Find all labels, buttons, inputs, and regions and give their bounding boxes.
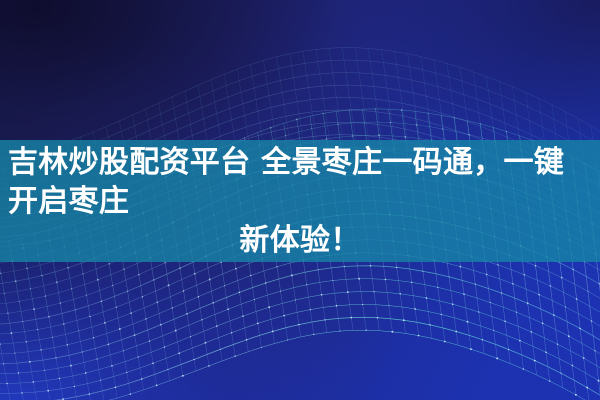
headline-line-1: 吉林炒股配资平台 全景枣庄一码通，一键开启枣庄 <box>8 145 564 219</box>
promo-banner: 吉林炒股配资平台 全景枣庄一码通，一键开启枣庄新体验！ <box>0 0 600 400</box>
headline-container: 吉林炒股配资平台 全景枣庄一码通，一键开启枣庄新体验！ <box>0 140 600 262</box>
page-title: 吉林炒股配资平台 全景枣庄一码通，一键开启枣庄新体验！ <box>8 143 592 260</box>
headline-line-2: 新体验！ <box>8 221 592 260</box>
